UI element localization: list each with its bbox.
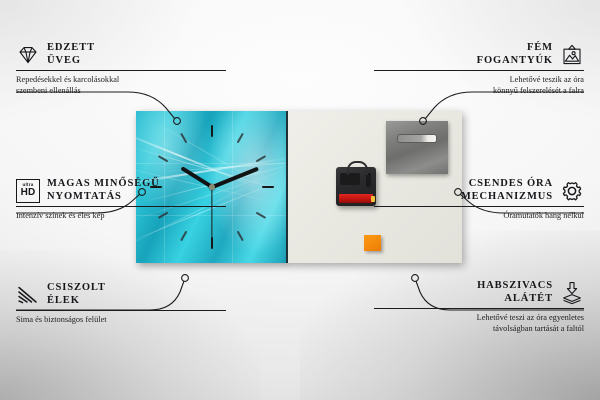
feature-header: HABSZIVACS ALÁTÉT xyxy=(374,280,584,308)
feature-header: ultra HD MAGAS MINŐSÉGŰ NYOMTATÁS xyxy=(16,178,226,206)
ultra-hd-big-text: HD xyxy=(21,188,36,198)
feature-polished-edges: CSISZOLT ÉLEK Sima és biztonságos felüle… xyxy=(16,282,226,326)
feature-title: EDZETT ÜVEG xyxy=(47,42,95,67)
movement-post xyxy=(366,173,371,187)
product-feature-infographic: EDZETT ÜVEG Repedésekkel és karcolásokka… xyxy=(0,0,600,400)
feature-description: Lehetővé teszi az óra egyenletes távolsá… xyxy=(374,309,584,334)
feature-description: Sima és biztonságos felület xyxy=(16,311,226,326)
feature-header: CSENDES ÓRA MECHANIZMUS xyxy=(374,178,584,206)
feature-description: Repedésekkel és karcolásokkal szembeni e… xyxy=(16,71,226,96)
press-down-layers-icon xyxy=(560,281,584,305)
movement-hanger-loop xyxy=(347,161,368,175)
feature-header: FÉM FOGANTYÚK xyxy=(374,42,584,70)
connector-dot-polished-edges xyxy=(182,275,189,282)
feature-description: Intenzív színek és éles kép xyxy=(16,207,226,222)
feature-header: EDZETT ÜVEG xyxy=(16,42,226,70)
diamond-icon xyxy=(16,43,40,67)
feature-title: MAGAS MINŐSÉGŰ NYOMTATÁS xyxy=(47,178,160,203)
feature-description: Lehetővé teszik az óra könnyű felszerelé… xyxy=(374,71,584,96)
feature-title: FÉM FOGANTYÚK xyxy=(477,42,553,67)
ultra-hd-icon: ultra HD xyxy=(16,179,40,203)
picture-hanger-icon xyxy=(560,43,584,67)
feature-title: HABSZIVACS ALÁTÉT xyxy=(477,280,553,305)
foam-pad xyxy=(364,235,381,251)
hanger-slot xyxy=(397,134,437,143)
feature-title: CSISZOLT ÉLEK xyxy=(47,282,106,307)
feature-metal-handles: FÉM FOGANTYÚK Lehetővé teszik az óra kön… xyxy=(374,42,584,96)
feature-silent-mechanism: CSENDES ÓRA MECHANIZMUS Óramutatók hang … xyxy=(374,178,584,222)
gear-icon xyxy=(560,179,584,203)
metal-hanger-bracket xyxy=(386,121,448,174)
feature-header: CSISZOLT ÉLEK xyxy=(16,282,226,310)
feature-hd-print: ultra HD MAGAS MINŐSÉGŰ NYOMTATÁS Intenz… xyxy=(16,178,226,222)
polished-edge-icon xyxy=(16,283,40,307)
feature-description: Óramutatók hang nélkül xyxy=(374,207,584,222)
feature-title: CSENDES ÓRA MECHANIZMUS xyxy=(461,178,553,203)
feature-foam-pad: HABSZIVACS ALÁTÉT Lehetővé teszi az óra … xyxy=(374,280,584,334)
battery xyxy=(339,194,373,203)
feature-tempered-glass: EDZETT ÜVEG Repedésekkel és karcolásokka… xyxy=(16,42,226,96)
